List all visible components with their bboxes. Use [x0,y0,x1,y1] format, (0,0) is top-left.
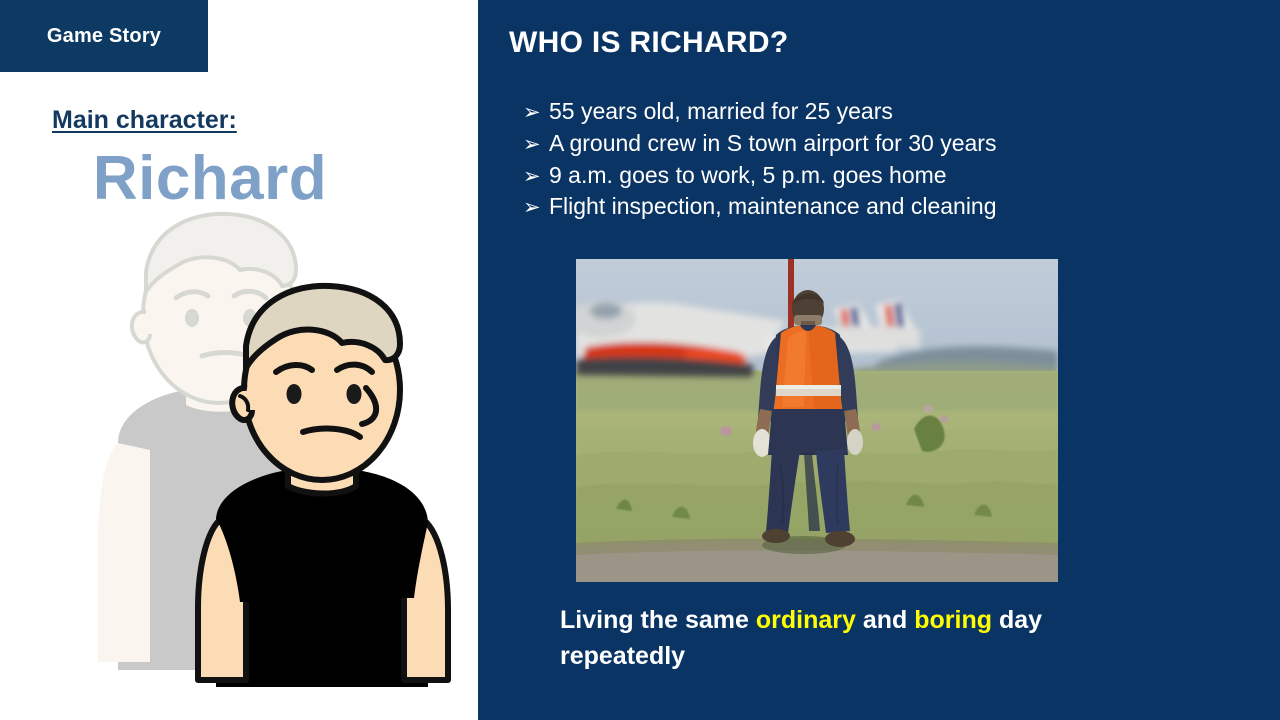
caption-part-2: and [856,606,914,634]
list-item: ➢ 9 a.m. goes to work, 5 p.m. goes home [523,163,1268,188]
right-panel: WHO IS RICHARD? ➢ 55 years old, married … [478,0,1280,720]
arrow-bullet-icon: ➢ [523,102,549,123]
caption-highlight-ordinary: ordinary [756,606,856,634]
left-panel: Game Story Main character: Richard [0,0,478,720]
caption-part-3: day [992,606,1042,634]
main-character-label: Main character: [52,106,237,135]
arrow-bullet-icon: ➢ [523,134,549,155]
ground-crew-photo [576,259,1058,582]
arrow-bullet-icon: ➢ [523,197,549,218]
list-item-label: 55 years old, married for 25 years [549,99,893,124]
character-illustration [0,200,478,720]
caption-line-2: repeatedly [560,642,685,670]
list-item: ➢ A ground crew in S town airport for 30… [523,131,1268,156]
list-item-label: A ground crew in S town airport for 30 y… [549,131,996,156]
slide-caption: Living the same ordinary and boring day … [560,603,1220,674]
section-badge: Game Story [0,0,208,72]
bullet-list: ➢ 55 years old, married for 25 years ➢ A… [523,99,1268,226]
arrow-bullet-icon: ➢ [523,166,549,187]
list-item: ➢ Flight inspection, maintenance and cle… [523,194,1268,219]
slide: Game Story Main character: Richard [0,0,1280,720]
list-item: ➢ 55 years old, married for 25 years [523,99,1268,124]
caption-highlight-boring: boring [914,606,992,634]
section-badge-label: Game Story [47,25,161,48]
list-item-label: Flight inspection, maintenance and clean… [549,194,997,219]
list-item-label: 9 a.m. goes to work, 5 p.m. goes home [549,163,947,188]
caption-part-1: Living the same [560,606,756,634]
page-title: WHO IS RICHARD? [509,26,788,60]
